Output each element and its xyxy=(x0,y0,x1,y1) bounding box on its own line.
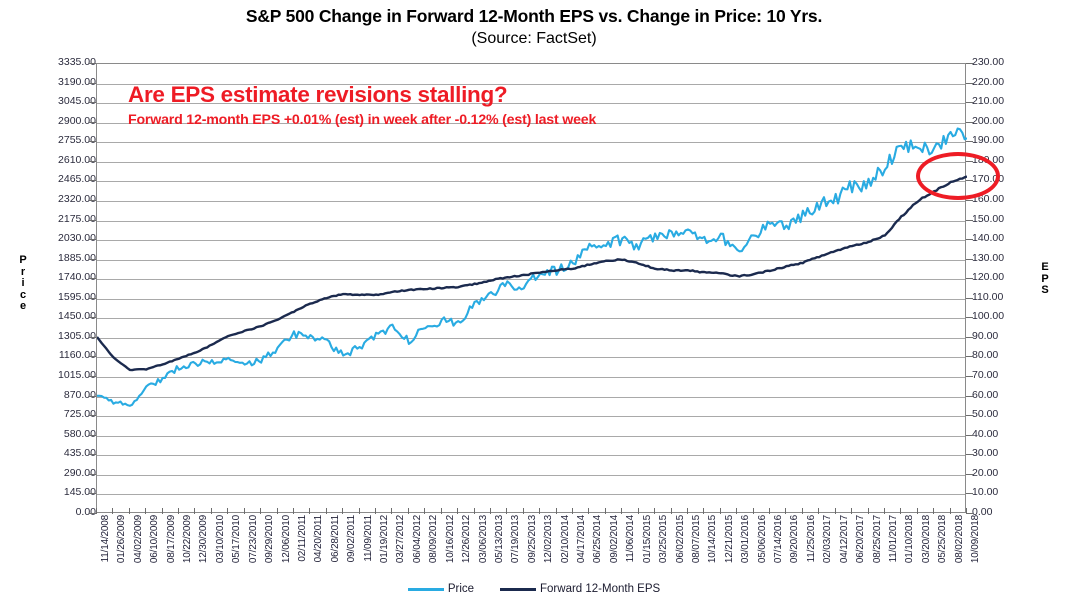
x-axis-tick-label: 06/04/2012 xyxy=(412,515,423,563)
x-axis-tickmark xyxy=(703,508,704,514)
x-axis-tickmark xyxy=(309,508,310,514)
y-axis-left-tickmark xyxy=(89,259,96,260)
x-axis-tickmark xyxy=(638,508,639,514)
x-axis-tick-label: 08/02/2018 xyxy=(954,515,965,563)
y-axis-right-tick-label: 30.00 xyxy=(972,448,1042,459)
x-axis-tickmark xyxy=(342,508,343,514)
y-axis-right-tickmark xyxy=(966,376,973,377)
x-axis-tickmark xyxy=(145,508,146,514)
y-axis-left-tick-label: 1450.00 xyxy=(10,311,96,322)
x-axis-tickmark xyxy=(917,508,918,514)
y-axis-left-tick-label: 1740.00 xyxy=(10,272,96,283)
x-axis-tick-label: 01/15/2015 xyxy=(642,515,653,563)
chart-legend: PriceForward 12-Month EPS xyxy=(0,583,1068,595)
x-axis-tick-label: 02/03/2017 xyxy=(822,515,833,563)
x-axis-tick-label: 03/20/2018 xyxy=(921,515,932,563)
x-axis-tickmark xyxy=(621,508,622,514)
x-axis-tickmark xyxy=(900,508,901,514)
y-axis-left-tickmark xyxy=(89,161,96,162)
y-axis-right-tickmark xyxy=(966,513,973,514)
x-axis-tick-label: 05/25/2018 xyxy=(937,515,948,563)
x-axis-tick-label: 02/10/2014 xyxy=(560,515,571,563)
x-axis-tickmark xyxy=(474,508,475,514)
x-axis-tick-label: 12/30/2009 xyxy=(198,515,209,563)
y-axis-right-tick-label: 120.00 xyxy=(972,272,1042,283)
x-axis-tickmark xyxy=(162,508,163,514)
y-axis-left-tickmark xyxy=(89,141,96,142)
x-axis-tickmark xyxy=(441,508,442,514)
x-axis-tickmark xyxy=(293,508,294,514)
annotation-headline: Are EPS estimate revisions stalling? xyxy=(128,82,507,108)
y-axis-right-tick-label: 80.00 xyxy=(972,350,1042,361)
x-axis-tickmark xyxy=(966,508,967,514)
series-container xyxy=(97,64,967,514)
y-axis-left-tickmark xyxy=(89,356,96,357)
y-axis-right-tick-label: 10.00 xyxy=(972,487,1042,498)
x-axis-tickmark xyxy=(391,508,392,514)
y-axis-right-tickmark xyxy=(966,298,973,299)
y-axis-left-tick-label: 1885.00 xyxy=(10,253,96,264)
x-axis-tick-label: 11/09/2011 xyxy=(363,515,374,562)
x-axis-tickmark xyxy=(227,508,228,514)
y-axis-left-tick-label: 1015.00 xyxy=(10,370,96,381)
x-axis-tick-label: 09/25/2013 xyxy=(527,515,538,563)
y-axis-right-tickmark xyxy=(966,83,973,84)
x-axis-tickmark xyxy=(359,508,360,514)
y-axis-left-tickmark xyxy=(89,376,96,377)
y-axis-left-tickmark xyxy=(89,102,96,103)
x-axis-tick-label: 11/14/2008 xyxy=(100,515,111,562)
y-axis-left-tickmark xyxy=(89,474,96,475)
y-axis-right-tickmark xyxy=(966,239,973,240)
x-axis-tickmark xyxy=(490,508,491,514)
legend-item-forward-eps[interactable]: Forward 12-Month EPS xyxy=(500,583,660,595)
y-axis-left-tick-label: 1160.00 xyxy=(10,350,96,361)
x-axis-tickmark xyxy=(326,508,327,514)
y-axis-left-tickmark xyxy=(89,337,96,338)
y-axis-left-tickmark xyxy=(89,415,96,416)
x-axis-tick-label: 10/22/2009 xyxy=(182,515,193,563)
x-axis-tick-label: 12/06/2010 xyxy=(281,515,292,563)
x-axis-tickmark xyxy=(802,508,803,514)
x-axis-tickmark xyxy=(194,508,195,514)
x-axis-tickmark xyxy=(523,508,524,514)
y-axis-right-tick-label: 220.00 xyxy=(972,77,1042,88)
y-axis-right-tick-label: 160.00 xyxy=(972,194,1042,205)
x-axis-tick-label: 04/20/2011 xyxy=(313,515,324,562)
y-axis-right-tick-label: 200.00 xyxy=(972,116,1042,127)
x-axis-tick-label: 03/25/2015 xyxy=(658,515,669,563)
highlight-ellipse-annotation xyxy=(916,152,1000,200)
x-axis-tickmark xyxy=(112,508,113,514)
x-axis-tick-label: 12/21/2015 xyxy=(724,515,735,563)
x-axis-tick-label: 06/25/2014 xyxy=(592,515,603,563)
x-axis-tickmark xyxy=(572,508,573,514)
y-axis-right-tickmark xyxy=(966,278,973,279)
x-axis-tick-label: 04/12/2017 xyxy=(839,515,850,563)
x-axis-tick-label: 05/13/2013 xyxy=(494,515,505,563)
x-axis-tickmark xyxy=(950,508,951,514)
y-axis-right-tickmark xyxy=(966,454,973,455)
y-axis-left-tick-label: 2465.00 xyxy=(10,174,96,185)
x-axis-tickmark xyxy=(868,508,869,514)
y-axis-right-tick-label: 100.00 xyxy=(972,311,1042,322)
x-axis-tickmark xyxy=(424,508,425,514)
x-axis-tickmark xyxy=(785,508,786,514)
x-axis-tick-label: 12/02/2013 xyxy=(543,515,554,563)
legend-item-price[interactable]: Price xyxy=(408,583,474,595)
x-axis-tick-label: 07/23/2010 xyxy=(248,515,259,563)
y-axis-right-tick-label: 50.00 xyxy=(972,409,1042,420)
x-axis-tick-label: 05/06/2016 xyxy=(757,515,768,563)
y-axis-right-tick-label: 40.00 xyxy=(972,429,1042,440)
y-axis-left-tickmark xyxy=(89,220,96,221)
x-axis-tick-label: 01/19/2012 xyxy=(379,515,390,563)
x-axis-labels: 11/14/200801/26/200904/02/200906/10/2009… xyxy=(96,515,966,587)
legend-label: Forward 12-Month EPS xyxy=(540,583,660,595)
y-axis-right-tick-label: 70.00 xyxy=(972,370,1042,381)
y-axis-left-tickmark xyxy=(89,239,96,240)
x-axis-tickmark xyxy=(260,508,261,514)
x-axis-tickmark xyxy=(375,508,376,514)
x-axis-tick-label: 08/17/2009 xyxy=(166,515,177,563)
y-axis-right-tick-label: 130.00 xyxy=(972,253,1042,264)
x-axis-tickmark xyxy=(671,508,672,514)
y-axis-left-tick-label: 435.00 xyxy=(10,448,96,459)
y-axis-left-tickmark xyxy=(89,513,96,514)
chart-source-subtitle: (Source: FactSet) xyxy=(0,30,1068,48)
legend-label: Price xyxy=(448,583,474,595)
x-axis-tickmark xyxy=(835,508,836,514)
x-axis-tick-label: 05/17/2010 xyxy=(231,515,242,563)
x-axis-tickmark xyxy=(211,508,212,514)
y-axis-right-tick-label: 110.00 xyxy=(972,292,1042,303)
x-axis-tick-label: 10/14/2015 xyxy=(707,515,718,563)
y-axis-left-tickmark xyxy=(89,396,96,397)
x-axis-tick-label: 11/01/2017 xyxy=(888,515,899,562)
y-axis-left-tick-label: 870.00 xyxy=(10,390,96,401)
y-axis-right-tickmark xyxy=(966,435,973,436)
y-axis-left-tick-label: 3335.00 xyxy=(10,57,96,68)
x-axis-tickmark xyxy=(408,508,409,514)
x-axis-tick-label: 08/25/2017 xyxy=(872,515,883,563)
y-axis-right-tickmark xyxy=(966,493,973,494)
annotation-detail: Forward 12-month EPS +0.01% (est) in wee… xyxy=(128,112,596,128)
y-axis-right-tick-label: 230.00 xyxy=(972,57,1042,68)
y-axis-right-tickmark xyxy=(966,220,973,221)
y-axis-right-tick-label: 0.00 xyxy=(972,507,1042,518)
x-axis-tick-label: 01/10/2018 xyxy=(904,515,915,563)
y-axis-left-tick-label: 2175.00 xyxy=(10,214,96,225)
y-axis-right-tickmark xyxy=(966,63,973,64)
y-axis-right-tickmark xyxy=(966,200,973,201)
y-axis-right-tickmark xyxy=(966,122,973,123)
x-axis-tick-label: 06/02/2015 xyxy=(675,515,686,563)
y-axis-left-tickmark xyxy=(89,83,96,84)
y-axis-left-tickmark xyxy=(89,278,96,279)
y-axis-left-tickmark xyxy=(89,200,96,201)
x-axis-tick-label: 09/02/2011 xyxy=(346,515,357,562)
y-axis-left-tick-label: 2900.00 xyxy=(10,116,96,127)
y-axis-left-tick-label: 0.00 xyxy=(10,507,96,518)
x-axis-tick-label: 10/16/2012 xyxy=(445,515,456,563)
y-axis-right-tick-label: 210.00 xyxy=(972,96,1042,107)
x-axis-tickmark xyxy=(753,508,754,514)
y-axis-left-tick-label: 2755.00 xyxy=(10,135,96,146)
x-axis-tick-label: 04/02/2009 xyxy=(133,515,144,563)
legend-color-swatch xyxy=(408,588,444,591)
y-axis-left-tickmark xyxy=(89,317,96,318)
y-axis-left-tickmark xyxy=(89,180,96,181)
x-axis-tickmark xyxy=(506,508,507,514)
y-axis-left-tick-label: 725.00 xyxy=(10,409,96,420)
x-axis-tick-label: 04/17/2014 xyxy=(576,515,587,563)
x-axis-tick-label: 12/26/2012 xyxy=(461,515,472,563)
y-axis-left-title: Price xyxy=(16,255,30,313)
legend-color-swatch xyxy=(500,588,536,591)
x-axis-tick-label: 08/07/2015 xyxy=(691,515,702,563)
y-axis-right-tickmark xyxy=(966,337,973,338)
x-axis-tickmark xyxy=(588,508,589,514)
y-axis-left-tickmark xyxy=(89,435,96,436)
y-axis-left-tick-label: 3190.00 xyxy=(10,77,96,88)
y-axis-right-tickmark xyxy=(966,396,973,397)
y-axis-left-tickmark xyxy=(89,454,96,455)
x-axis-tickmark xyxy=(96,508,97,514)
x-axis-tick-label: 02/11/2011 xyxy=(297,515,308,562)
y-axis-left-tick-label: 145.00 xyxy=(10,487,96,498)
series-line-forward-eps xyxy=(97,177,967,371)
x-axis-tickmark xyxy=(244,508,245,514)
x-axis-tick-label: 11/06/2014 xyxy=(625,515,636,562)
x-axis-tick-label: 06/10/2009 xyxy=(149,515,160,563)
y-axis-left-tick-label: 2030.00 xyxy=(10,233,96,244)
y-axis-left-tick-label: 2320.00 xyxy=(10,194,96,205)
x-axis-tickmark xyxy=(818,508,819,514)
x-axis-tickmark xyxy=(687,508,688,514)
y-axis-left-tickmark xyxy=(89,63,96,64)
y-axis-left-tick-label: 1595.00 xyxy=(10,292,96,303)
y-axis-right-tickmark xyxy=(966,356,973,357)
y-axis-right-tick-label: 20.00 xyxy=(972,468,1042,479)
x-axis-tickmark xyxy=(720,508,721,514)
y-axis-right-tick-label: 60.00 xyxy=(972,390,1042,401)
y-axis-right-tick-label: 140.00 xyxy=(972,233,1042,244)
y-axis-right-tickmark xyxy=(966,102,973,103)
page-title: S&P 500 Change in Forward 12-Month EPS v… xyxy=(0,6,1068,27)
x-axis-tick-label: 09/29/2010 xyxy=(264,515,275,563)
y-axis-left-tick-label: 290.00 xyxy=(10,468,96,479)
x-axis-tickmark xyxy=(851,508,852,514)
x-axis-tick-label: 07/14/2016 xyxy=(773,515,784,563)
x-axis-tickmark xyxy=(605,508,606,514)
x-axis-tick-label: 11/25/2016 xyxy=(806,515,817,562)
x-axis-tick-label: 08/09/2012 xyxy=(428,515,439,563)
x-axis-tick-label: 03/01/2016 xyxy=(740,515,751,563)
y-axis-right-tickmark xyxy=(966,415,973,416)
y-axis-left-tickmark xyxy=(89,493,96,494)
x-axis-tick-label: 01/26/2009 xyxy=(116,515,127,563)
y-axis-left-tickmark xyxy=(89,298,96,299)
x-axis-tick-label: 06/20/2017 xyxy=(855,515,866,563)
x-axis-tickmark xyxy=(884,508,885,514)
x-axis-tick-label: 06/28/2011 xyxy=(330,515,341,562)
x-axis-tick-label: 03/06/2013 xyxy=(478,515,489,563)
x-axis-tick-label: 09/02/2014 xyxy=(609,515,620,563)
x-axis-tickmark xyxy=(178,508,179,514)
y-axis-right-tickmark xyxy=(966,317,973,318)
y-axis-right-tickmark xyxy=(966,141,973,142)
y-axis-left-tickmark xyxy=(89,122,96,123)
y-axis-right-tick-label: 190.00 xyxy=(972,135,1042,146)
y-axis-right-tick-label: 150.00 xyxy=(972,214,1042,225)
x-axis-tickmark xyxy=(129,508,130,514)
x-axis-tick-label: 09/20/2016 xyxy=(789,515,800,563)
x-axis-tickmark xyxy=(539,508,540,514)
x-axis-tick-label: 07/19/2013 xyxy=(510,515,521,563)
x-axis-tick-label: 03/27/2012 xyxy=(395,515,406,563)
y-axis-left-tick-label: 1305.00 xyxy=(10,331,96,342)
plot-area xyxy=(96,63,966,513)
x-axis-tick-label: 10/09/2018 xyxy=(970,515,981,563)
x-axis-tick-label: 03/10/2010 xyxy=(215,515,226,563)
y-axis-right-tickmark xyxy=(966,259,973,260)
y-axis-right-tick-label: 90.00 xyxy=(972,331,1042,342)
x-axis-tickmark xyxy=(277,508,278,514)
x-axis-tickmark xyxy=(736,508,737,514)
y-axis-left-tick-label: 580.00 xyxy=(10,429,96,440)
x-axis-tickmark xyxy=(933,508,934,514)
x-axis-tickmark xyxy=(654,508,655,514)
y-axis-left-tick-label: 2610.00 xyxy=(10,155,96,166)
y-axis-right-tickmark xyxy=(966,474,973,475)
x-axis-tickmark xyxy=(769,508,770,514)
y-axis-left-tick-label: 3045.00 xyxy=(10,96,96,107)
x-axis-tickmark xyxy=(457,508,458,514)
series-line-price xyxy=(97,129,967,406)
x-axis-tickmark xyxy=(556,508,557,514)
